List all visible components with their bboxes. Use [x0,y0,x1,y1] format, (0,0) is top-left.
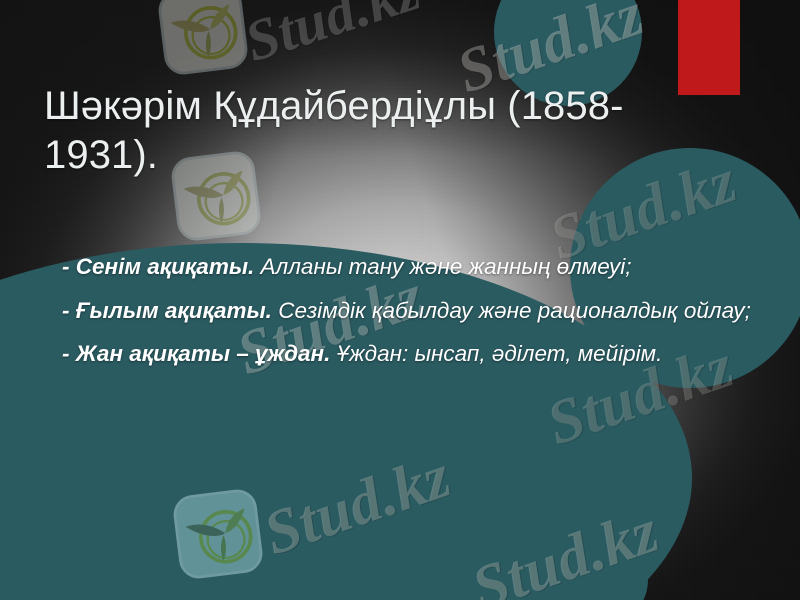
hummingbird-logo-icon [167,483,270,586]
bullet-lead: - Ғылым ақиқаты. [62,298,272,323]
bullet-list: - Сенім ақиқаты. Алланы тану және жанның… [38,252,760,370]
bullet-tail: Алланы тану және жанның өлмеуі; [254,254,631,279]
slide-canvas: Stud.kz Stud.kz Stud.kz Stud.kz Stud.kz … [0,0,800,600]
red-accent-bar [678,0,740,95]
bullet-lead: - Жан ақиқаты – ұждан. [62,341,330,366]
bullet-tail: Ұждан: ынсап, әділет, мейірім. [330,341,662,366]
list-item: - Сенім ақиқаты. Алланы тану және жанның… [38,252,760,283]
bullet-tail: Сезімдік қабылдау және рационалдық ойлау… [272,298,751,323]
list-item: - Жан ақиқаты – ұждан. Ұждан: ынсап, әді… [38,339,760,370]
list-item: - Ғылым ақиқаты. Сезімдік қабылдау және … [38,296,760,327]
page-title: Шәкәрім Құдайбердіұлы (1858-1931). [44,82,704,180]
bullet-lead: - Сенім ақиқаты. [62,254,254,279]
